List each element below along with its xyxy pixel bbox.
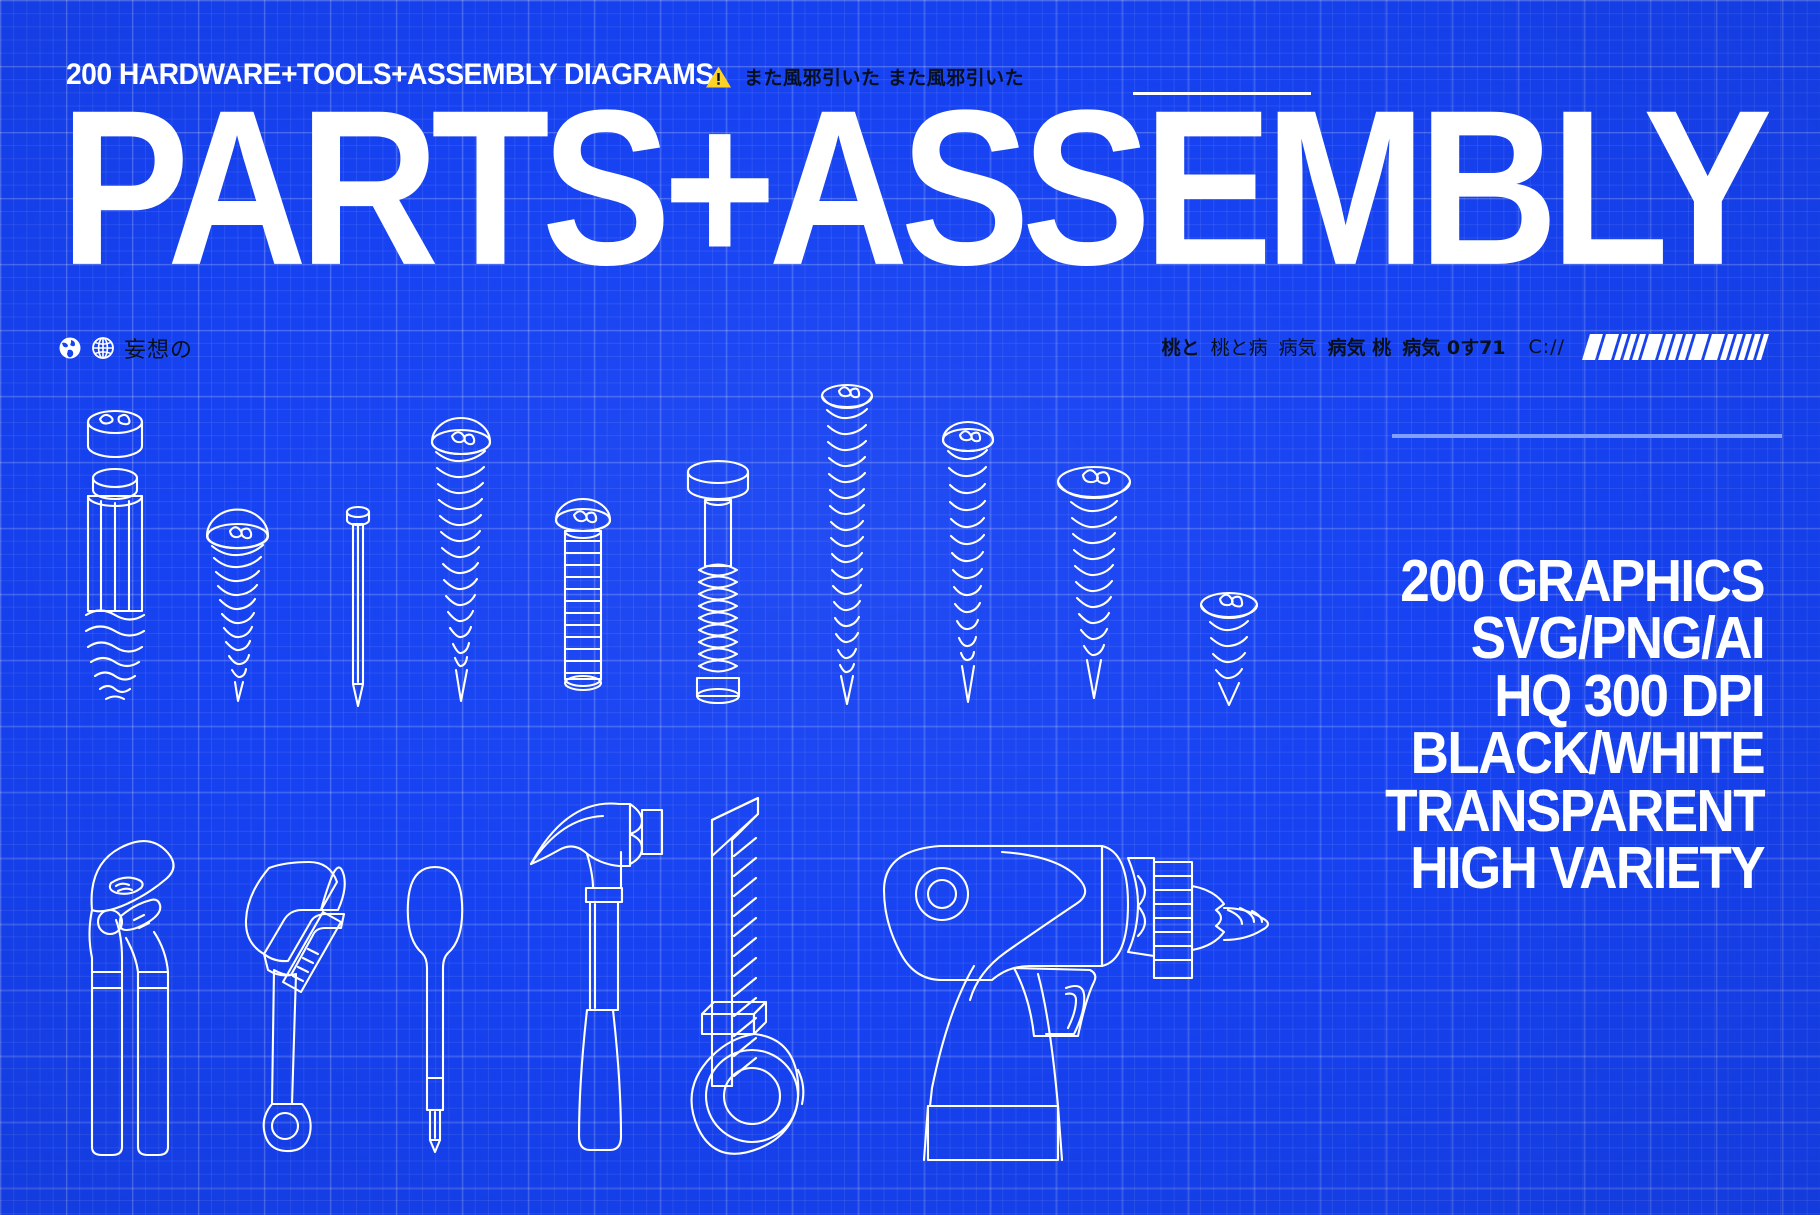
claw-hammer-icon <box>525 800 660 1158</box>
phillips-wood-screw-icon <box>425 418 497 705</box>
meta-left-group: 妄想の <box>58 332 193 364</box>
globe-earth-icon <box>58 336 82 360</box>
meta-token-0: 桃と <box>1162 333 1200 360</box>
finishing-nail-icon <box>340 500 376 708</box>
phillips-machine-screw-icon <box>552 498 614 706</box>
torx-pan-head-screw-icon <box>200 510 275 705</box>
feature-item-5: HIGH VARIETY <box>1385 838 1764 900</box>
hex-bolt-threaded-rod-icon <box>685 458 751 708</box>
short-flat-head-screw-icon <box>1198 588 1260 708</box>
flat-head-long-wood-screw-icon <box>818 378 876 708</box>
star-drive-deck-screw-icon <box>940 420 996 708</box>
tape-measure-icon <box>690 990 820 1162</box>
page-title: PARTS+ASSEMBLY <box>60 94 1770 284</box>
cordless-drill-icon <box>862 790 1282 1160</box>
wafer-head-screw-icon <box>1055 460 1133 705</box>
meta-token-3: 病気 桃 <box>1328 333 1392 360</box>
path-string: C:// <box>1529 336 1565 358</box>
globe-wireframe-icon <box>91 336 115 360</box>
diagonal-slash-barcode-icon <box>1586 334 1765 360</box>
meta-token-4: 病気 0す71 <box>1402 333 1505 360</box>
screwdriver-icon <box>400 862 470 1157</box>
feature-item-4: TRANSPARENT <box>1385 780 1764 842</box>
adjustable-wrench-icon <box>237 858 347 1156</box>
secondary-rule <box>1392 434 1782 438</box>
feature-item-1: SVG/PNG/AI <box>1385 608 1764 670</box>
meta-left-label: 妄想の <box>124 332 193 364</box>
meta-token-2: 病気 <box>1279 333 1317 360</box>
feature-item-0: 200 GRAPHICS <box>1385 551 1764 613</box>
meta-token-1: 桃と病 <box>1211 333 1268 360</box>
hex-bolt-with-spring-icon <box>70 400 160 705</box>
feature-list: 200 GRAPHICS SVG/PNG/AI HQ 300 DPI BLACK… <box>1385 554 1764 898</box>
meta-right-group: 桃と 桃と病 病気 病気 桃 病気 0す71 C:// <box>1162 333 1765 360</box>
feature-item-3: BLACK/WHITE <box>1385 723 1764 785</box>
feature-item-2: HQ 300 DPI <box>1385 665 1764 727</box>
tongue-and-groove-pliers-icon <box>68 810 188 1155</box>
